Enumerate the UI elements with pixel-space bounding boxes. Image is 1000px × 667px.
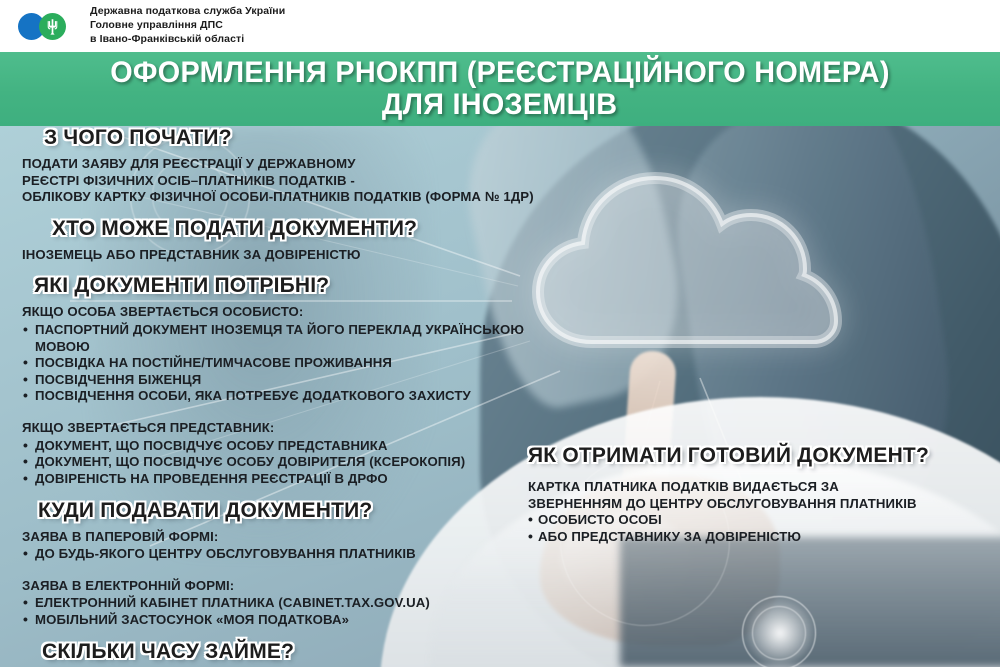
receive-list: ОСОБИСТО ОСОБІ АБО ПРЕДСТАВНИКУ ЗА ДОВІР… (528, 512, 988, 545)
right-column: ЯК ОТРИМАТИ ГОТОВИЙ ДОКУМЕНТ? КАРТКА ПЛА… (528, 444, 988, 545)
where-electronic-list: ЕЛЕКТРОННИЙ КАБІНЕТ ПЛАТНИКА (CABINET.TA… (22, 595, 582, 628)
list-item: ЕЛЕКТРОННИЙ КАБІНЕТ ПЛАТНИКА (CABINET.TA… (22, 595, 582, 612)
section-heading-who: ХТО МОЖЕ ПОДАТИ ДОКУМЕНТИ? (52, 217, 582, 241)
list-item: МОБІЛЬНИЙ ЗАСТОСУНОК «МОЯ ПОДАТКОВА» (22, 612, 582, 629)
section-text-who: ІНОЗЕМЕЦЬ АБО ПРЕДСТАВНИК ЗА ДОВІРЕНІСТЮ (22, 247, 582, 264)
list-item: АБО ПРЕДСТАВНИКУ ЗА ДОВІРЕНІСТЮ (528, 529, 988, 546)
list-item: ПОСВІДКА НА ПОСТІЙНЕ/ТИМЧАСОВЕ ПРОЖИВАНН… (22, 355, 582, 372)
poster-title-line-2: ДЛЯ ІНОЗЕМЦІВ (382, 89, 617, 121)
poster-title-line-1: ОФОРМЛЕННЯ РНОКПП (РЕЄСТРАЦІЙНОГО НОМЕРА… (110, 57, 890, 89)
where-paper-lead: ЗАЯВА В ПАПЕРОВІЙ ФОРМІ: (22, 529, 582, 546)
section-text-start: ПОДАТИ ЗАЯВУ ДЛЯ РЕЄСТРАЦІЇ У ДЕРЖАВНОМУ… (22, 156, 582, 206)
section-heading-where: КУДИ ПОДАВАТИ ДОКУМЕНТИ? (38, 499, 582, 523)
agency-line-3: в Івано-Франківській області (90, 33, 285, 47)
list-item: ДОКУМЕНТ, ЩО ПОСВІДЧУЄ ОСОБУ ПРЕДСТАВНИК… (22, 438, 582, 455)
agency-name-block: Державна податкова служба України Головн… (90, 5, 285, 47)
list-item: ПАСПОРТНИЙ ДОКУМЕНТ ІНОЗЕМЦЯ ТА ЙОГО ПЕР… (22, 322, 582, 355)
list-item: ДОКУМЕНТ, ЩО ПОСВІДЧУЄ ОСОБУ ДОВІРИТЕЛЯ … (22, 454, 582, 471)
documents-representative-lead: ЯКЩО ЗВЕРТАЄТЬСЯ ПРЕДСТАВНИК: (22, 420, 582, 437)
documents-personal-list: ПАСПОРТНИЙ ДОКУМЕНТ ІНОЗЕМЦЯ ТА ЙОГО ПЕР… (22, 322, 582, 405)
list-item: ПОСВІДЧЕННЯ БІЖЕНЦЯ (22, 372, 582, 389)
documents-personal-lead: ЯКЩО ОСОБА ЗВЕРТАЄТЬСЯ ОСОБИСТО: (22, 304, 582, 321)
poster-header: Державна податкова служба України Головн… (0, 0, 1000, 52)
agency-line-2: Головне управління ДПС (90, 19, 285, 33)
section-text-receive: КАРТКА ПЛАТНИКА ПОДАТКІВ ВИДАЄТЬСЯ ЗА ЗВ… (528, 479, 988, 512)
list-item: ОСОБИСТО ОСОБІ (528, 512, 988, 529)
where-paper-list: ДО БУДЬ-ЯКОГО ЦЕНТРУ ОБСЛУГОВУВАННЯ ПЛАТ… (22, 546, 582, 563)
documents-representative-list: ДОКУМЕНТ, ЩО ПОСВІДЧУЄ ОСОБУ ПРЕДСТАВНИК… (22, 438, 582, 488)
green-trident-logo-icon (39, 13, 66, 40)
infographic-poster: Державна податкова служба України Головн… (0, 0, 1000, 667)
section-heading-duration: СКІЛЬКИ ЧАСУ ЗАЙМЕ? (42, 640, 582, 664)
section-heading-start: З ЧОГО ПОЧАТИ? (44, 126, 582, 150)
list-item: ПОСВІДЧЕННЯ ОСОБИ, ЯКА ПОТРЕБУЄ ДОДАТКОВ… (22, 388, 582, 405)
list-item: ДО БУДЬ-ЯКОГО ЦЕНТРУ ОБСЛУГОВУВАННЯ ПЛАТ… (22, 546, 582, 563)
list-item: ДОВІРЕНІСТЬ НА ПРОВЕДЕННЯ РЕЄСТРАЦІЇ В Д… (22, 471, 582, 488)
agency-line-1: Державна податкова служба України (90, 5, 285, 19)
where-electronic-lead: ЗАЯВА В ЕЛЕКТРОННІЙ ФОРМІ: (22, 578, 582, 595)
section-heading-documents: ЯКІ ДОКУМЕНТИ ПОТРІБНІ? (34, 274, 582, 298)
left-column: З ЧОГО ПОЧАТИ? ПОДАТИ ЗАЯВУ ДЛЯ РЕЄСТРАЦ… (22, 126, 582, 667)
title-banner: ОФОРМЛЕННЯ РНОКПП (РЕЄСТРАЦІЙНОГО НОМЕРА… (0, 52, 1000, 126)
section-heading-receive: ЯК ОТРИМАТИ ГОТОВИЙ ДОКУМЕНТ? (528, 444, 988, 468)
agency-logo (18, 10, 80, 42)
poster-content: З ЧОГО ПОЧАТИ? ПОДАТИ ЗАЯВУ ДЛЯ РЕЄСТРАЦ… (0, 126, 1000, 667)
